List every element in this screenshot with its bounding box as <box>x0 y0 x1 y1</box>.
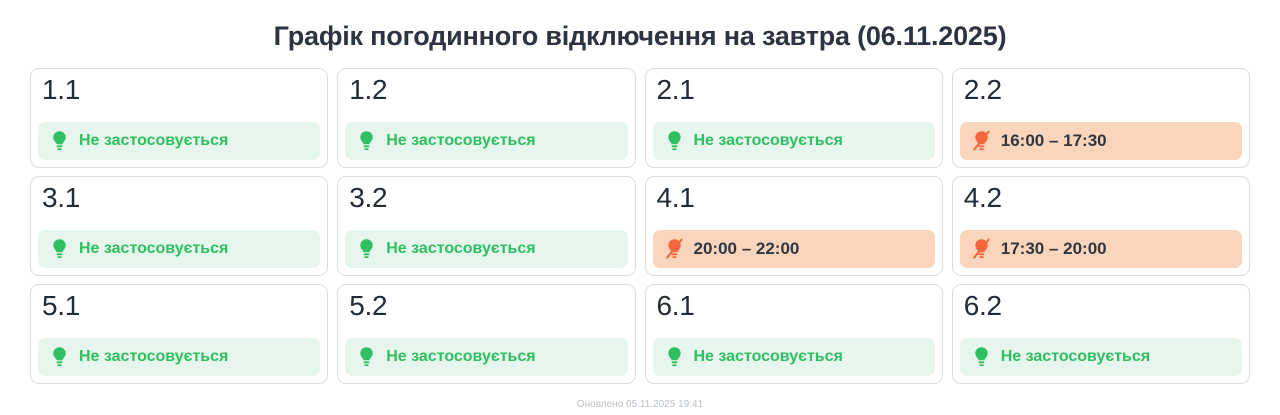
status-band-no-outage: Не застосовується <box>38 230 320 268</box>
group-label: 5.2 <box>345 291 627 320</box>
status-band-no-outage: Не застосовується <box>653 122 935 160</box>
status-text: Не застосовується <box>386 348 535 366</box>
bulb-icon <box>51 130 68 152</box>
group-label: 5.1 <box>38 291 320 320</box>
schedule-card[interactable]: 5.1Не застосовується <box>30 284 328 384</box>
status-text: 17:30 – 20:00 <box>1001 239 1107 259</box>
schedule-card[interactable]: 1.1Не застосовується <box>30 68 328 168</box>
bulb-icon <box>358 346 375 368</box>
bulb-off-icon <box>973 238 990 260</box>
bulb-icon <box>358 130 375 152</box>
bulb-icon <box>51 238 68 260</box>
schedule-card[interactable]: 2.1Не застосовується <box>645 68 943 168</box>
schedule-card[interactable]: 1.2Не застосовується <box>337 68 635 168</box>
group-label: 1.1 <box>38 75 320 104</box>
status-band-outage: 17:30 – 20:00 <box>960 230 1242 268</box>
schedule-card[interactable]: 3.2Не застосовується <box>337 176 635 276</box>
status-band-no-outage: Не застосовується <box>653 338 935 376</box>
bulb-icon <box>973 346 990 368</box>
bulb-icon <box>358 238 375 260</box>
group-label: 1.2 <box>345 75 627 104</box>
status-band-no-outage: Не застосовується <box>38 338 320 376</box>
group-label: 6.1 <box>653 291 935 320</box>
status-band-no-outage: Не застосовується <box>345 230 627 268</box>
status-band-outage: 16:00 – 17:30 <box>960 122 1242 160</box>
status-band-no-outage: Не застосовується <box>345 122 627 160</box>
bulb-icon <box>666 346 683 368</box>
status-text: Не застосовується <box>79 132 228 150</box>
schedule-card[interactable]: 2.216:00 – 17:30 <box>952 68 1250 168</box>
status-text: Не застосовується <box>79 348 228 366</box>
schedule-card[interactable]: 4.217:30 – 20:00 <box>952 176 1250 276</box>
bulb-icon <box>666 130 683 152</box>
schedule-card[interactable]: 4.120:00 – 22:00 <box>645 176 943 276</box>
group-label: 3.1 <box>38 183 320 212</box>
status-band-outage: 20:00 – 22:00 <box>653 230 935 268</box>
schedule-card[interactable]: 6.2Не застосовується <box>952 284 1250 384</box>
schedule-card[interactable]: 3.1Не застосовується <box>30 176 328 276</box>
group-label: 4.2 <box>960 183 1242 212</box>
status-text: 16:00 – 17:30 <box>1001 131 1107 151</box>
status-text: 20:00 – 22:00 <box>694 239 800 259</box>
page-title: Графік погодинного відключення на завтра… <box>0 20 1280 52</box>
outage-schedule-page: Графік погодинного відключення на завтра… <box>0 0 1280 415</box>
group-label: 3.2 <box>345 183 627 212</box>
status-band-no-outage: Не застосовується <box>38 122 320 160</box>
status-text: Не застосовується <box>694 132 843 150</box>
group-label: 2.1 <box>653 75 935 104</box>
status-text: Не застосовується <box>694 348 843 366</box>
status-text: Не застосовується <box>1001 348 1150 366</box>
group-label: 2.2 <box>960 75 1242 104</box>
schedule-card[interactable]: 5.2Не застосовується <box>337 284 635 384</box>
status-text: Не застосовується <box>386 132 535 150</box>
bulb-off-icon <box>666 238 683 260</box>
group-label: 6.2 <box>960 291 1242 320</box>
bulb-icon <box>51 346 68 368</box>
bulb-off-icon <box>973 130 990 152</box>
schedule-card[interactable]: 6.1Не застосовується <box>645 284 943 384</box>
group-label: 4.1 <box>653 183 935 212</box>
status-band-no-outage: Не застосовується <box>960 338 1242 376</box>
status-text: Не застосовується <box>79 240 228 258</box>
status-text: Не застосовується <box>386 240 535 258</box>
status-band-no-outage: Не застосовується <box>345 338 627 376</box>
schedule-grid: 1.1Не застосовується1.2Не застосовується… <box>30 68 1250 384</box>
updated-timestamp: Оновлено 05.11.2025 19:41 <box>0 399 1280 415</box>
